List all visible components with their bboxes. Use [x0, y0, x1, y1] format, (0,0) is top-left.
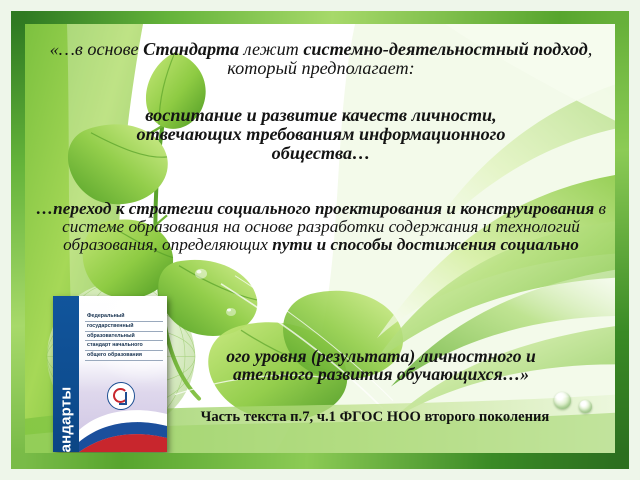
book-cover-title-line-4: стандарт начального [85, 341, 163, 351]
source-attribution: Часть текста п.7, ч.1 ФГОС НОО второго п… [145, 409, 605, 426]
quote-p3-bold-lead: …переход к стратегии социального проекти… [36, 199, 594, 218]
quote-p2-line-1: воспитание и развитие качеств личности, [33, 106, 609, 125]
quote-p2-line-2: отвечающих требованиям информационного [33, 125, 609, 144]
russian-flag-ribbon-icon [79, 400, 167, 452]
slide-frame: стандарты второго поколения Федеральный … [11, 11, 629, 469]
book-spine-title: стандарты [58, 351, 75, 453]
book-spine: стандарты второго поколения [53, 296, 79, 452]
quote-bold-approach: системно-деятельностный подход [303, 39, 587, 59]
book-cover-title: Федеральный государственный образователь… [85, 312, 163, 361]
slide-canvas: стандарты второго поколения Федеральный … [0, 0, 640, 480]
quote-paragraph-1: «…в основе Стандарта лежит системно-деят… [33, 40, 609, 78]
book-cover-image: стандарты второго поколения Федеральный … [53, 296, 167, 452]
quote-p4-line-2: ательного развития обучающихся…» [153, 365, 609, 383]
quote-bold-standard: Стандарта [143, 39, 239, 59]
quote-paragraph-3: …переход к стратегии социального проекти… [33, 200, 609, 254]
quote-paragraph-2: воспитание и развитие качеств личности, … [33, 106, 609, 163]
book-cover-title-line-5: общего образования [85, 351, 163, 361]
book-cover-title-line-2: государственный [85, 322, 163, 332]
quote-open: «…в основе [50, 39, 144, 59]
book-cover-title-line-1: Федеральный [85, 312, 163, 322]
quote-mid-1: лежит [239, 39, 303, 59]
book-cover-title-line-3: образовательный [85, 332, 163, 342]
quote-p2-line-3: общества… [33, 144, 609, 163]
quote-p3-bold-tail: пути и способы достижения социально [272, 235, 579, 254]
book-front-face: Федеральный государственный образователь… [79, 296, 167, 452]
quote-p4-line-1: ого уровня (результата) личностного и [153, 347, 609, 365]
